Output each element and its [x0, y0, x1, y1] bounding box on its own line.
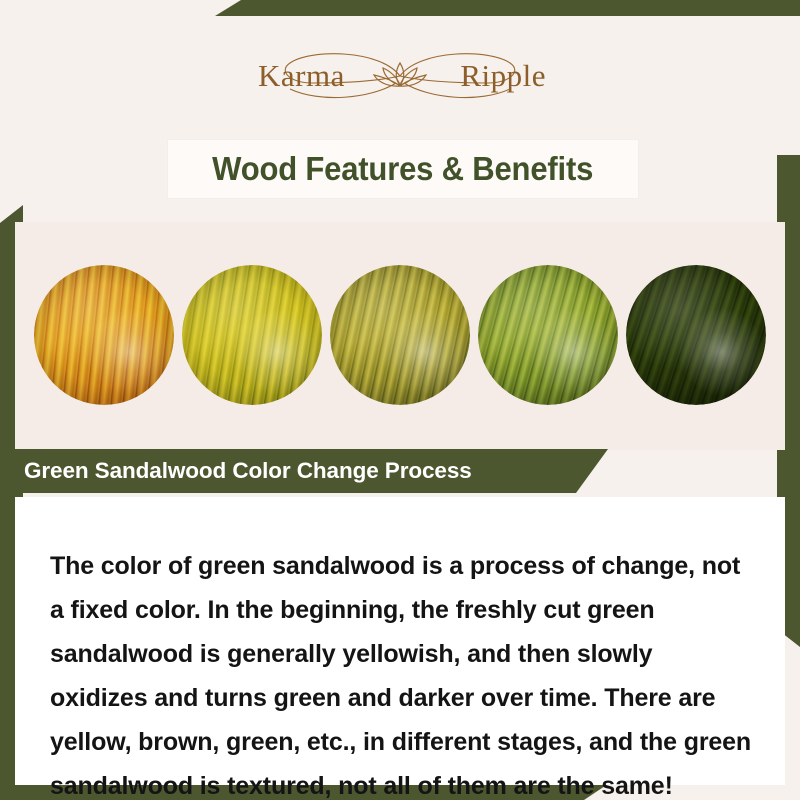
logo-word-ripple: Ripple: [460, 58, 546, 94]
bead-stage-2: [182, 265, 322, 405]
bead-row: [0, 250, 800, 420]
logo-word-karma: Karma: [258, 58, 345, 94]
bead-stage-5: [626, 265, 766, 405]
section-banner: Green Sandalwood Color Change Process: [0, 449, 608, 493]
lotus-icon: [374, 63, 426, 86]
bead-stage-3: [330, 265, 470, 405]
brand-logo: Karma Ripple: [0, 30, 800, 122]
bead-shading: [626, 265, 766, 405]
bead-shading: [34, 265, 174, 405]
logo-lockup: Karma Ripple: [250, 41, 550, 111]
frame-top-bar: [215, 0, 800, 16]
poster-canvas: Karma Ripple Wood Features & Benefits Gr…: [0, 0, 800, 800]
bead-stage-4: [478, 265, 618, 405]
bead-shading: [330, 265, 470, 405]
section-heading: Green Sandalwood Color Change Process: [24, 458, 472, 484]
bead-stage-1: [34, 265, 174, 405]
headline-band: Wood Features & Benefits: [168, 140, 638, 198]
bead-shading: [478, 265, 618, 405]
body-card: The color of green sandalwood is a proce…: [15, 497, 785, 785]
body-paragraph: The color of green sandalwood is a proce…: [50, 544, 756, 800]
bead-shading: [182, 265, 322, 405]
page-title: Wood Features & Benefits: [212, 150, 593, 188]
